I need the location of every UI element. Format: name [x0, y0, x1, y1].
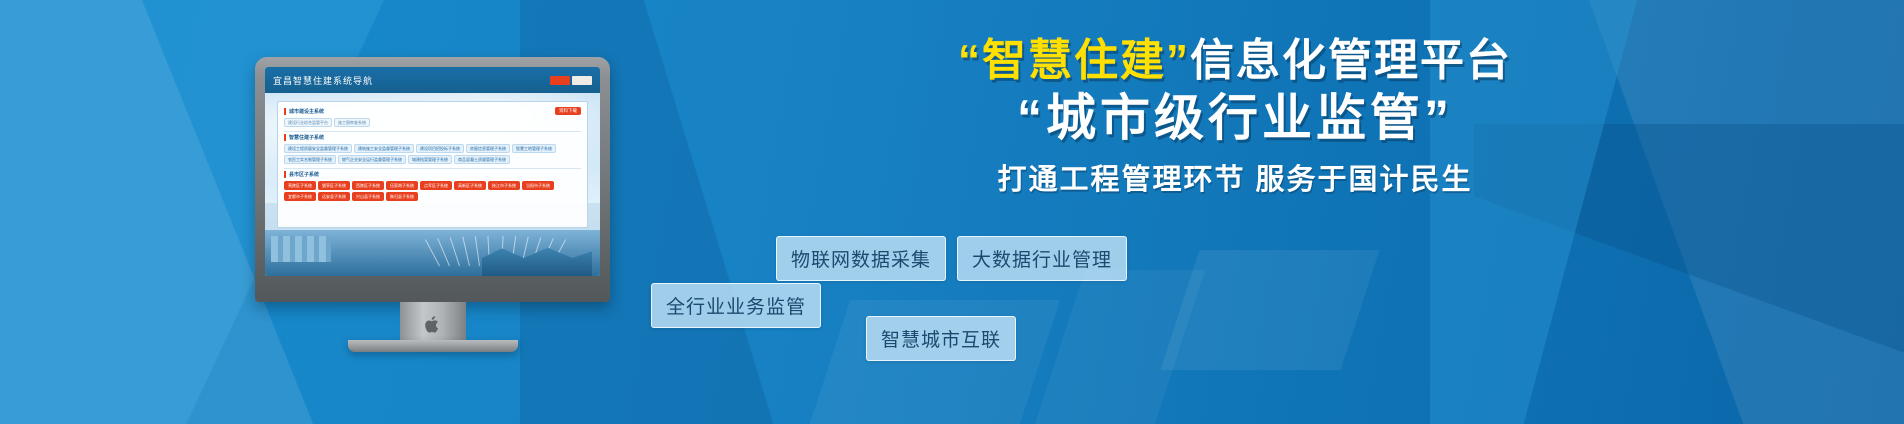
nav-chip[interactable]: 高新区子系统 — [454, 181, 486, 190]
monitor-screen: 宜昌智慧住建系统导航 — [265, 67, 600, 276]
monitor-bezel: 宜昌智慧住建系统导航 — [255, 57, 610, 302]
section-items-main: 建设行业综合监管平台 施工图审查系统 — [284, 118, 581, 127]
monitor-stand-foot — [348, 340, 518, 352]
divider — [284, 131, 581, 132]
nav-chip[interactable]: 农民工实名制管理子系统 — [284, 155, 336, 164]
nav-chip[interactable]: 远安县子系统 — [318, 192, 350, 201]
feature-tag-supervision[interactable]: 全行业业务监管 — [651, 283, 821, 328]
nav-chip[interactable]: 兴山县子系统 — [352, 192, 384, 201]
nav-chip[interactable]: 房屋信息管理子系统 — [466, 144, 510, 153]
nav-chip[interactable]: 商品混凝土质量管理子系统 — [454, 155, 510, 164]
nav-chip[interactable]: 建设行业综合监管平台 — [284, 118, 332, 127]
headline-highlight: 智慧住建 — [982, 36, 1166, 85]
feature-tag-iot[interactable]: 物联网数据采集 — [776, 236, 946, 281]
section-heading-districts: 县市区子系统 — [284, 171, 581, 178]
section-heading-main: 城市建设主系统 — [284, 108, 324, 115]
screen-city-skyline — [265, 230, 600, 276]
nav-chip[interactable]: 猇亭区子系统 — [318, 181, 350, 190]
feature-tag-bigdata[interactable]: 大数据行业管理 — [957, 236, 1127, 281]
download-button[interactable]: 资料下载 — [555, 107, 581, 115]
nav-chip[interactable]: 西陵区子系统 — [352, 181, 384, 190]
screen-logo — [550, 76, 592, 85]
panel-header-row: 城市建设主系统 资料下载 — [284, 107, 581, 115]
nav-chip[interactable]: 燃气企业安全运行监督管理子系统 — [338, 155, 406, 164]
bridge-graphic — [439, 232, 569, 266]
headline-block: “智慧住建”信息化管理平台 “城市级行业监管” 打通工程管理环节 服务于国计民生 — [645, 36, 1825, 198]
feature-tag-group: 物联网数据采集 大数据行业管理 全行业业务监管 智慧城市互联 — [645, 232, 1825, 372]
nav-chip[interactable]: 伍家岗子系统 — [386, 181, 418, 190]
nav-chip[interactable]: 夷陵区子系统 — [284, 181, 316, 190]
apple-logo-icon — [424, 315, 441, 334]
screen-header-bar: 宜昌智慧住建系统导航 — [265, 67, 600, 93]
nav-chip[interactable]: 当阳市子系统 — [522, 181, 554, 190]
logo-mark-light — [572, 76, 592, 85]
nav-chip[interactable]: 建设工程质量安全监督管理子系统 — [284, 144, 352, 153]
quote-close: ” — [1166, 36, 1190, 85]
section-items-sub: 建设工程质量安全监督管理子系统 建筑施工安全监督管理子系统 建设项目招投标子系统… — [284, 144, 581, 164]
nav-chip[interactable]: 建设项目招投标子系统 — [416, 144, 464, 153]
quote-open: “ — [958, 36, 982, 85]
headline-line-1: “智慧住建”信息化管理平台 — [645, 36, 1825, 85]
logo-mark-red — [550, 76, 570, 85]
screen-body: 城市建设主系统 资料下载 建设行业综合监管平台 施工图审查系统 智慧住建子系统 … — [265, 93, 600, 276]
nav-chip[interactable]: 建筑施工安全监督管理子系统 — [354, 144, 414, 153]
headline-rest: 信息化管理平台 — [1190, 36, 1512, 85]
imac-illustration: 宜昌智慧住建系统导航 — [255, 57, 610, 302]
section-heading-sub: 智慧住建子系统 — [284, 134, 581, 141]
headline-line-2: “城市级行业监管” — [645, 91, 1825, 146]
nav-chip[interactable]: 施工图审查系统 — [334, 118, 370, 127]
section-items-districts: 夷陵区子系统 猇亭区子系统 西陵区子系统 伍家岗子系统 点军区子系统 高新区子系… — [284, 181, 581, 201]
nav-chip[interactable]: 宜都市子系统 — [284, 192, 316, 201]
hero-banner: 宜昌智慧住建系统导航 — [0, 0, 1904, 424]
nav-chip[interactable]: 秭归县子系统 — [386, 192, 418, 201]
headline-subtitle: 打通工程管理环节 服务于国计民生 — [645, 156, 1825, 198]
nav-chip[interactable]: 智慧工地管理子系统 — [512, 144, 556, 153]
feature-tag-smartcity[interactable]: 智慧城市互联 — [866, 316, 1016, 361]
nav-chip[interactable]: 点军区子系统 — [420, 181, 452, 190]
screen-title: 宜昌智慧住建系统导航 — [273, 74, 373, 87]
nav-chip[interactable]: 枝江市子系统 — [488, 181, 520, 190]
dashboard-panel: 城市建设主系统 资料下载 建设行业综合监管平台 施工图审查系统 智慧住建子系统 … — [277, 101, 588, 228]
divider — [284, 168, 581, 169]
nav-chip[interactable]: 城建档案管理子系统 — [408, 155, 452, 164]
